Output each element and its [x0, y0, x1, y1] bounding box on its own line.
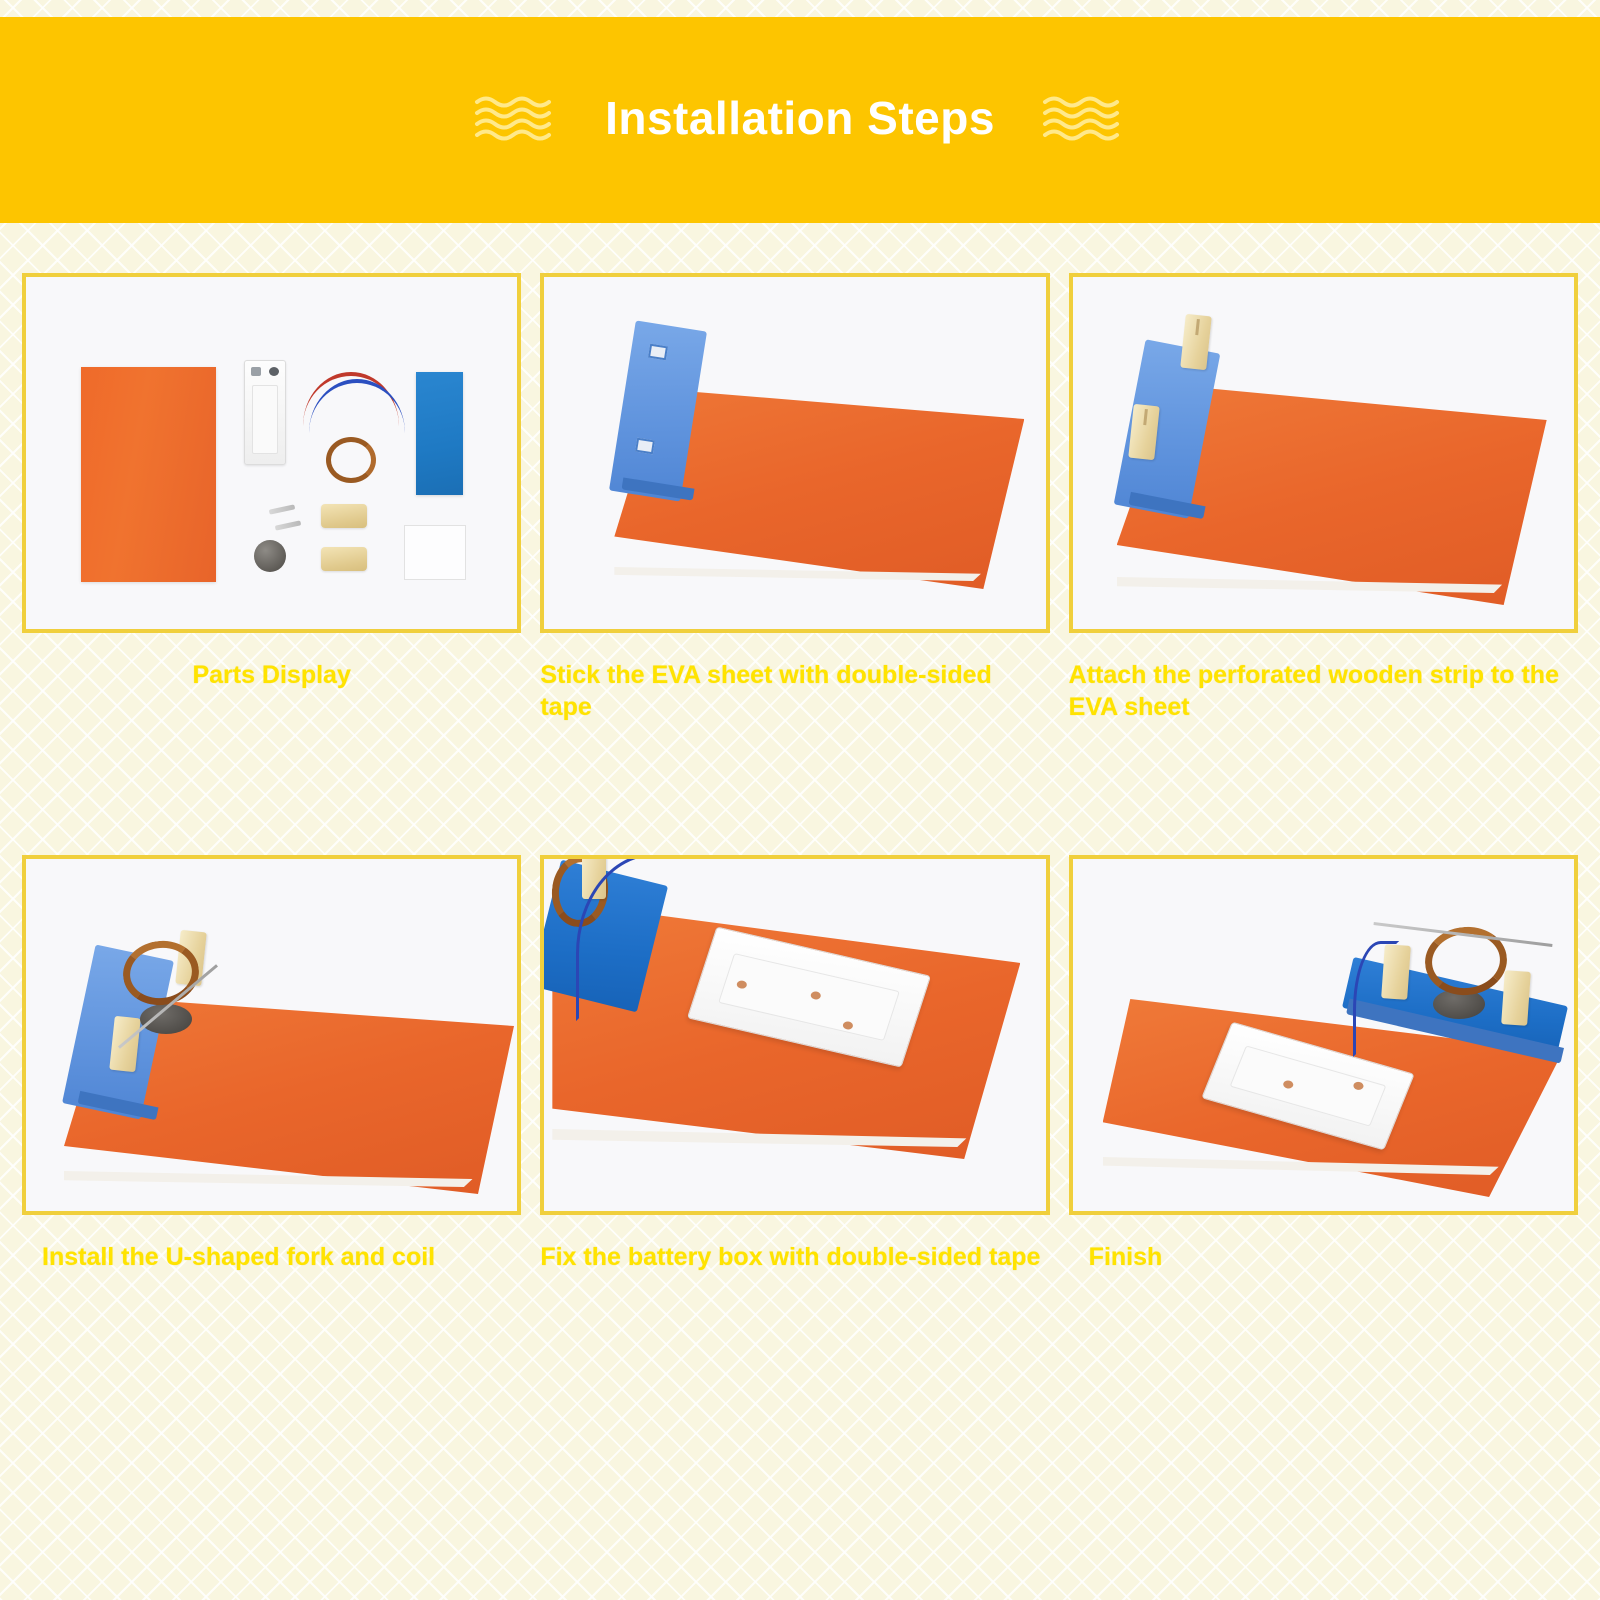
step-caption-3: Attach the perforated wooden strip to th…: [1069, 659, 1578, 723]
page-title: Installation Steps: [605, 95, 995, 141]
step-item-5: Fix the battery box with double-sided ta…: [540, 855, 1049, 1273]
finished-assembly-photo: [1069, 855, 1578, 1215]
wooden-post-2: [1501, 970, 1531, 1026]
wooden-post-2: [1128, 404, 1160, 460]
wooden-strip-part-2: [321, 547, 367, 571]
steps-row-2: Install the U-shaped fork and coil: [22, 855, 1578, 1273]
orange-board-part: [81, 367, 216, 582]
step-item-1: Parts Display: [22, 273, 521, 723]
install-fork-and-coil-photo: [22, 855, 521, 1215]
wavy-lines-icon-left: [473, 94, 559, 142]
installation-steps-grid: Parts Display Stick the EVA sheet with d…: [22, 273, 1578, 1273]
stick-eva-sheet-photo: [540, 273, 1049, 633]
magnet-part: [254, 540, 286, 572]
step-caption-6: Finish: [1069, 1241, 1578, 1273]
parts-display-photo: [22, 273, 521, 633]
step-caption-2: Stick the EVA sheet with double-sided ta…: [540, 659, 1049, 723]
eva-hole-2: [635, 438, 655, 455]
eva-hole-1: [648, 344, 668, 361]
steps-row-1: Parts Display Stick the EVA sheet with d…: [22, 273, 1578, 723]
wooden-strip-part-1: [321, 504, 367, 528]
fix-battery-box-photo: [540, 855, 1049, 1215]
step-caption-1: Parts Display: [22, 659, 521, 691]
step-item-2: Stick the EVA sheet with double-sided ta…: [540, 273, 1049, 723]
attach-wooden-strip-photo: [1069, 273, 1578, 633]
wooden-post-1: [1180, 314, 1212, 370]
step-item-4: Install the U-shaped fork and coil: [22, 855, 521, 1273]
step-item-6: Finish: [1069, 855, 1578, 1273]
blue-eva-sheet-part: [416, 372, 463, 495]
metal-pin-part-2: [275, 520, 301, 530]
copper-coil-part: [326, 437, 376, 483]
step-item-3: Attach the perforated wooden strip to th…: [1069, 273, 1578, 723]
step-caption-4: Install the U-shaped fork and coil: [22, 1241, 521, 1273]
header-content: Installation Steps: [473, 94, 1127, 142]
metal-pin-part-1: [269, 504, 295, 514]
double-sided-tape-part: [404, 525, 466, 580]
step-caption-5: Fix the battery box with double-sided ta…: [540, 1241, 1049, 1273]
battery-box-part: [244, 360, 286, 465]
wavy-lines-icon-right: [1041, 94, 1127, 142]
header-banner: Installation Steps: [0, 17, 1600, 223]
